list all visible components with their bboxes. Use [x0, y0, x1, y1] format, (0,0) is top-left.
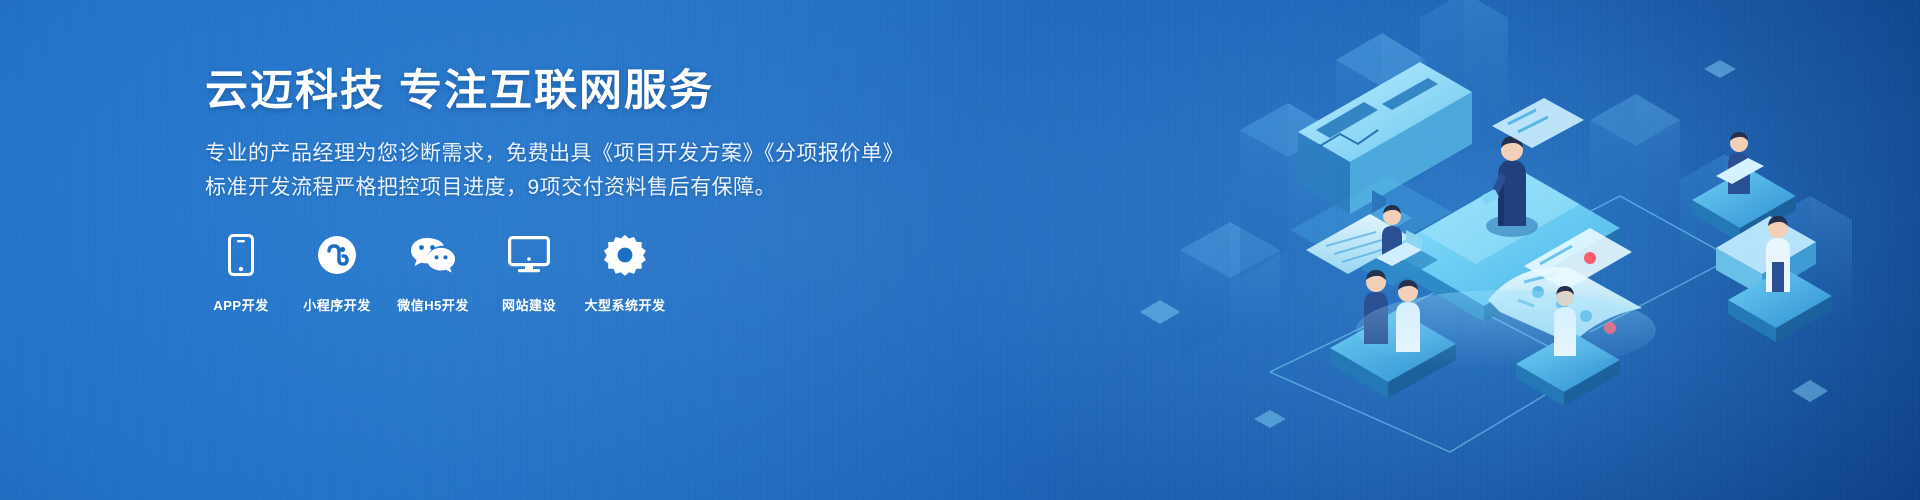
service-label: 网站建设: [502, 295, 556, 314]
monitor-icon: [508, 233, 550, 277]
service-label: APP开发: [213, 295, 268, 314]
mobile-phone-icon: [228, 233, 254, 277]
wechat-icon: [410, 233, 456, 277]
service-list: APP开发 小程序开发: [205, 233, 661, 314]
hero-copy: 云迈科技 专注互联网服务 专业的产品经理为您诊断需求，免费出具《项目开发方案》《…: [205, 70, 925, 205]
service-item-app[interactable]: APP开发: [205, 233, 277, 314]
service-item-mini-program[interactable]: 小程序开发: [301, 233, 373, 314]
service-item-large-system[interactable]: 大型系统开发: [589, 233, 661, 314]
service-label: 微信H5开发: [397, 295, 469, 314]
service-item-website[interactable]: 网站建设: [493, 233, 565, 314]
hero-subtitle: 专业的产品经理为您诊断需求，免费出具《项目开发方案》《分项报价单》 标准开发流程…: [205, 137, 925, 205]
service-label: 小程序开发: [303, 295, 371, 314]
hero-subtitle-line-2: 标准开发流程严格把控项目进度，9项交付资料售后有保障。: [205, 171, 925, 205]
hero-banner: 云迈科技 专注互联网服务 专业的产品经理为您诊断需求，免费出具《项目开发方案》《…: [0, 0, 1920, 500]
page-title: 云迈科技 专注互联网服务: [205, 70, 925, 113]
gear-icon: [604, 233, 646, 277]
service-label: 大型系统开发: [585, 295, 666, 314]
mini-program-icon: [317, 233, 357, 277]
isometric-data-dashboard-illustration: [1120, 0, 1920, 500]
hero-subtitle-line-1: 专业的产品经理为您诊断需求，免费出具《项目开发方案》《分项报价单》: [205, 137, 925, 171]
service-item-wechat[interactable]: 微信H5开发: [397, 233, 469, 314]
